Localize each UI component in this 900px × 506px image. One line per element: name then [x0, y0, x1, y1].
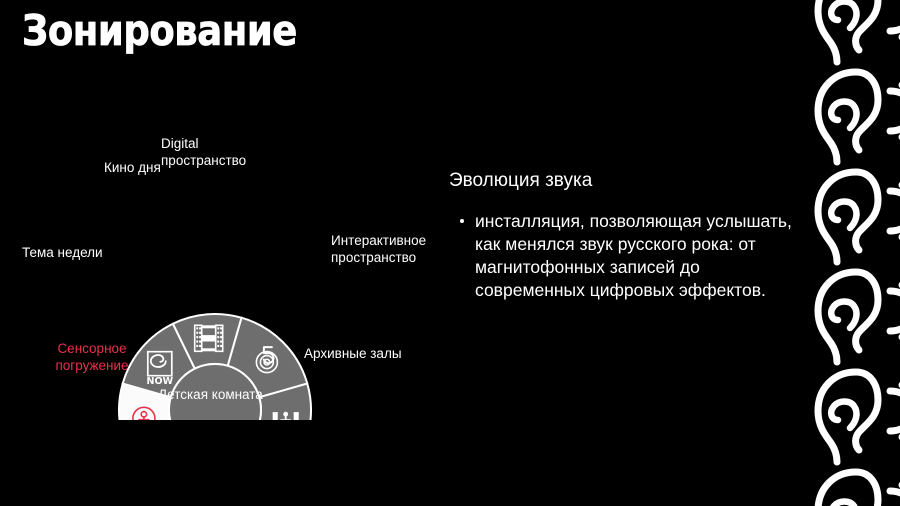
- interaction-people-icon: [273, 412, 299, 420]
- ear-inner-spiral-icon: [831, 202, 856, 229]
- sound-wave-icon-0: [890, 391, 900, 431]
- wheel-label-sensory-line1: Сенсорное: [32, 340, 152, 357]
- wheel-label-weektheme-line1: Тема недели: [22, 244, 103, 261]
- ear-inner-spiral-icon: [831, 2, 856, 29]
- ear-wave-unit: [798, 262, 900, 370]
- ear-wave-unit: [798, 162, 900, 270]
- wheel-label-digital-line2: пространство: [161, 152, 246, 169]
- wheel-label-kids: Детская комната: [158, 386, 263, 403]
- list-item: инсталляция, позволяющая услышать, как м…: [475, 210, 809, 302]
- ear-inner-spiral-icon: [831, 102, 856, 129]
- ear-icon: [818, 0, 878, 62]
- ear-inner-spiral-icon: [831, 302, 856, 329]
- ear-wave-unit: [798, 0, 900, 70]
- sound-wave-icon-0: [890, 291, 900, 331]
- content-column: Эволюция звука инсталляция, позволяющая …: [449, 168, 809, 302]
- wheel-label-interactive-line1: Интерактивное: [331, 232, 426, 249]
- wheel-label-cinema: Кино дня: [104, 159, 161, 176]
- content-heading: Эволюция звука: [449, 168, 809, 194]
- wheel-label-sensory: Сенсорное погружение: [32, 340, 152, 374]
- wheel-label-weektheme: Тема недели: [22, 244, 103, 261]
- sound-wave-icon-0: [890, 491, 900, 506]
- ear-icon: [818, 272, 878, 362]
- ear-sound-wave-pattern: [790, 0, 900, 506]
- wheel-label-interactive-line2: пространство: [331, 249, 426, 266]
- ear-wave-unit: [798, 362, 900, 470]
- wheel-label-archive: Архивные залы: [304, 345, 402, 362]
- sound-wave-icon-0: [890, 191, 900, 231]
- wheel-label-digital: Digital пространство: [161, 135, 246, 169]
- page-title: Зонирование: [22, 8, 297, 54]
- wheel-label-digital-line1: Digital: [161, 135, 246, 152]
- ear-wave-unit: [798, 62, 900, 170]
- ear-icon: [818, 72, 878, 162]
- ear-icon: [818, 172, 878, 262]
- ear-wave-unit: [798, 462, 900, 506]
- ear-inner-spiral-icon: [831, 402, 856, 429]
- zoning-wheel-diagram: NOW: [0, 120, 440, 420]
- ear-inner-spiral-icon: [831, 502, 856, 506]
- wheel-label-kids-line1: Детская комната: [158, 386, 263, 403]
- sound-wave-icon-0: [890, 0, 900, 31]
- presentation-slide: Зонирование: [0, 0, 900, 506]
- wheel-label-cinema-line1: Кино дня: [104, 159, 161, 176]
- wheel-label-archive-line1: Архивные залы: [304, 345, 402, 362]
- ear-icon: [818, 372, 878, 462]
- wheel-label-interactive: Интерактивное пространство: [331, 232, 426, 266]
- wheel-label-sensory-line2: погружение: [32, 357, 152, 374]
- content-bullet-list: инсталляция, позволяющая услышать, как м…: [449, 210, 809, 302]
- sound-wave-icon-0: [890, 91, 900, 131]
